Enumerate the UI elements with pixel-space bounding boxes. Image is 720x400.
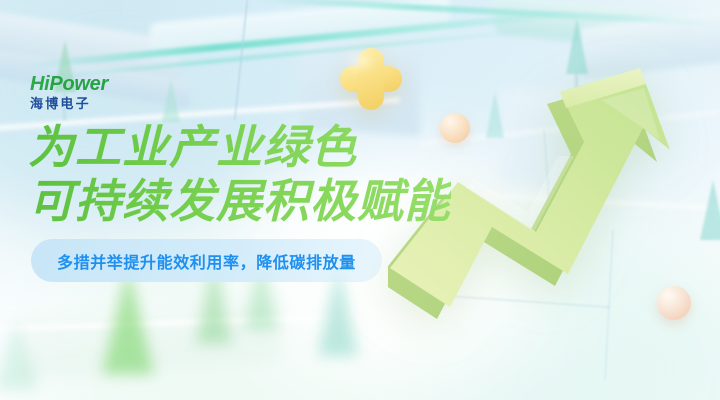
headline-line-2: 可持续发展积极赋能 xyxy=(28,174,451,228)
subtitle-text: 多措并举提升能效利用率，降低碳排放量 xyxy=(57,249,356,273)
subtitle-badge: 多措并举提升能效利用率，降低碳排放量 xyxy=(31,239,382,282)
foreground-cone xyxy=(102,266,154,374)
decorative-sphere xyxy=(657,286,691,320)
headline: 为工业产业绿色 可持续发展积极赋能 xyxy=(28,120,451,228)
headline-line-1: 为工业产业绿色 xyxy=(28,120,451,174)
brand-logo[interactable]: HiPower 海博电子 xyxy=(30,74,108,110)
brand-name-cn: 海博电子 xyxy=(30,97,108,110)
plus-highlight xyxy=(348,54,372,68)
promo-banner: HiPower 海博电子 为工业产业绿色 可持续发展积极赋能 多措并举提升能效利… xyxy=(0,0,720,400)
brand-wordmark: HiPower xyxy=(30,74,108,94)
tree-icon xyxy=(162,78,180,122)
plus-shape-icon xyxy=(340,48,402,110)
foreground-cone xyxy=(0,320,38,390)
brand-wordmark-prefix: Hi xyxy=(30,73,49,95)
brand-wordmark-suffix: Power xyxy=(49,73,108,95)
